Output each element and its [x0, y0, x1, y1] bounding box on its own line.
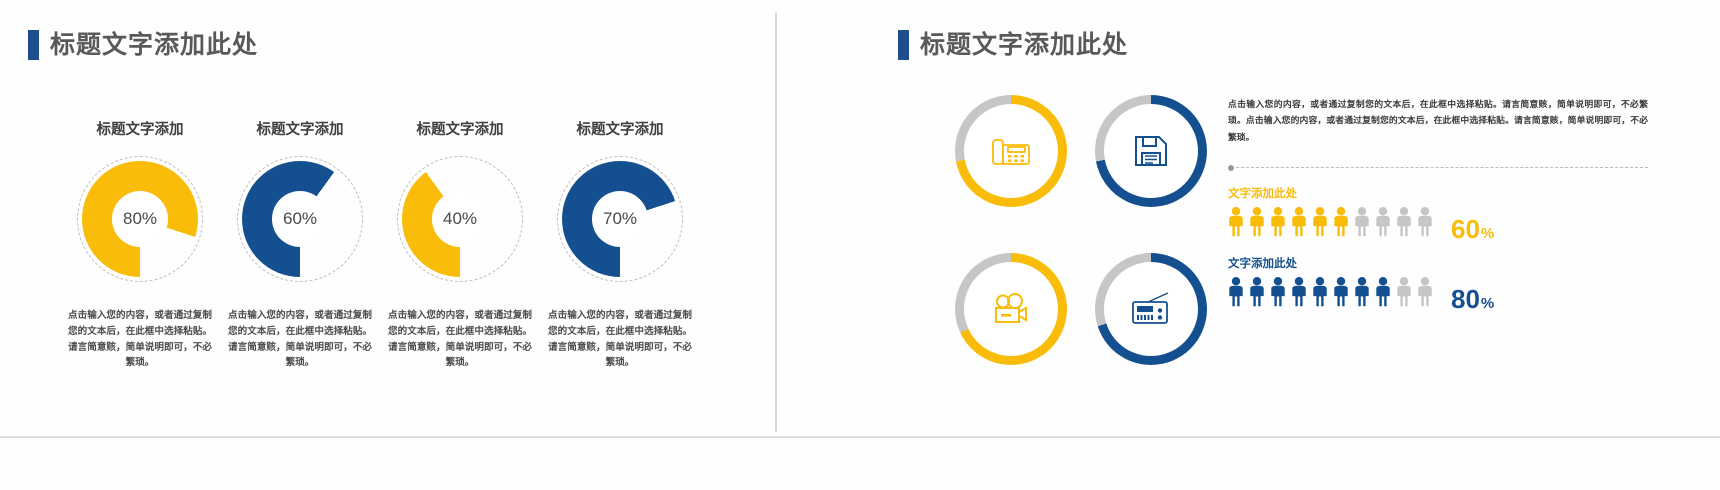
left-title: 标题文字添加此处: [28, 30, 258, 60]
title-accent-bar: [898, 30, 909, 60]
donut-chart-group: 标题文字添加80%点击输入您的内容，或者通过复制您的文本后，在此框中选择粘贴。请…: [60, 118, 700, 371]
floppy-disk-icon: [1104, 104, 1198, 198]
pictogram-person: [1333, 277, 1349, 312]
pictogram-person: [1270, 207, 1286, 242]
donut-chart[interactable]: 40%: [397, 156, 523, 282]
donut-description: 点击输入您的内容，或者通过复制您的文本后，在此框中选择粘贴。请言简意赅，简单说明…: [65, 308, 215, 371]
pictogram-bar: 80%: [1228, 277, 1658, 312]
pictogram-label: 文字添加此处: [1228, 185, 1658, 201]
pictogram-people: [1228, 207, 1433, 242]
pictogram-person: [1249, 277, 1265, 312]
pictogram-percent: 60%: [1451, 216, 1494, 242]
donut-heading: 标题文字添加: [97, 118, 184, 139]
donut-chart[interactable]: 70%: [557, 156, 683, 282]
right-title-text: 标题文字添加此处: [920, 30, 1128, 60]
donut-description: 点击输入您的内容，或者通过复制您的文本后，在此框中选择粘贴。请言简意赅，简单说明…: [545, 308, 695, 371]
donut-value: 80%: [112, 191, 168, 247]
pictogram-person: [1312, 207, 1328, 242]
donut-heading: 标题文字添加: [577, 118, 664, 139]
pictogram-person: [1396, 277, 1412, 312]
donut-value: 70%: [592, 191, 648, 247]
fax-phone-icon: [964, 104, 1058, 198]
dotted-separator: [1228, 165, 1648, 171]
pictogram-person: [1249, 207, 1265, 242]
right-slide: 标题文字添加此处 点击输入您的内容，或者通过复制您的文本后，在此框中选择粘贴。请…: [860, 0, 1720, 490]
pictogram-label: 文字添加此处: [1228, 255, 1658, 271]
donut-column: 标题文字添加60%点击输入您的内容，或者通过复制您的文本后，在此框中选择粘贴。请…: [220, 118, 380, 371]
icon-ring[interactable]: [1095, 253, 1207, 365]
video-camera-icon: [964, 262, 1058, 356]
slide-pair: 标题文字添加此处 标题文字添加80%点击输入您的内容，或者通过复制您的文本后，在…: [0, 0, 1720, 490]
title-accent-bar: [28, 30, 39, 60]
pictogram-row: 文字添加此处80%: [1228, 255, 1658, 312]
donut-value: 60%: [272, 191, 328, 247]
left-slide: 标题文字添加此处 标题文字添加80%点击输入您的内容，或者通过复制您的文本后，在…: [0, 0, 860, 490]
donut-column: 标题文字添加40%点击输入您的内容，或者通过复制您的文本后，在此框中选择粘贴。请…: [380, 118, 540, 371]
donut-description: 点击输入您的内容，或者通过复制您的文本后，在此框中选择粘贴。请言简意赅，简单说明…: [385, 308, 535, 371]
pictogram-person: [1417, 277, 1433, 312]
pictogram-people: [1228, 277, 1433, 312]
pictogram-group: 文字添加此处60%文字添加此处80%: [1228, 185, 1658, 312]
pictogram-person: [1228, 277, 1244, 312]
donut-chart[interactable]: 80%: [77, 156, 203, 282]
donut-heading: 标题文字添加: [417, 118, 504, 139]
pictogram-percent-symbol: %: [1481, 296, 1494, 311]
separator-dot: [1228, 165, 1234, 171]
pictogram-percent-value: 80: [1451, 286, 1480, 312]
donut-chart[interactable]: 60%: [237, 156, 363, 282]
icon-ring[interactable]: [1095, 95, 1207, 207]
right-paragraph: 点击输入您的内容，或者通过复制您的文本后，在此框中选择粘贴。请言简意赅，简单说明…: [1228, 96, 1648, 145]
pictogram-person: [1312, 277, 1328, 312]
pictogram-percent-symbol: %: [1481, 226, 1494, 241]
pictogram-person: [1396, 207, 1412, 242]
pictogram-person: [1228, 207, 1244, 242]
donut-description: 点击输入您的内容，或者通过复制您的文本后，在此框中选择粘贴。请言简意赅，简单说明…: [225, 308, 375, 371]
right-title: 标题文字添加此处: [898, 30, 1128, 60]
pictogram-person: [1354, 207, 1370, 242]
pictogram-percent: 80%: [1451, 286, 1494, 312]
donut-column: 标题文字添加80%点击输入您的内容，或者通过复制您的文本后，在此框中选择粘贴。请…: [60, 118, 220, 371]
donut-heading: 标题文字添加: [257, 118, 344, 139]
pictogram-person: [1291, 207, 1307, 242]
donut-value: 40%: [432, 191, 488, 247]
pictogram-person: [1417, 207, 1433, 242]
pictogram-person: [1354, 277, 1370, 312]
icon-ring[interactable]: [955, 253, 1067, 365]
donut-column: 标题文字添加70%点击输入您的内容，或者通过复制您的文本后，在此框中选择粘贴。请…: [540, 118, 700, 371]
left-title-text: 标题文字添加此处: [50, 30, 258, 60]
radio-icon: [1104, 262, 1198, 356]
right-content-panel: 点击输入您的内容，或者通过复制您的文本后，在此框中选择粘贴。请言简意赅，简单说明…: [1228, 96, 1658, 312]
icon-ring-group: [955, 95, 1225, 365]
icon-ring[interactable]: [955, 95, 1067, 207]
horizontal-divider: [0, 436, 1720, 438]
pictogram-person: [1375, 277, 1391, 312]
pictogram-person: [1333, 207, 1349, 242]
pictogram-percent-value: 60: [1451, 216, 1480, 242]
pictogram-bar: 60%: [1228, 207, 1658, 242]
pictogram-person: [1375, 207, 1391, 242]
pictogram-person: [1270, 277, 1286, 312]
pictogram-person: [1291, 277, 1307, 312]
vertical-divider: [775, 12, 777, 432]
pictogram-row: 文字添加此处60%: [1228, 185, 1658, 242]
